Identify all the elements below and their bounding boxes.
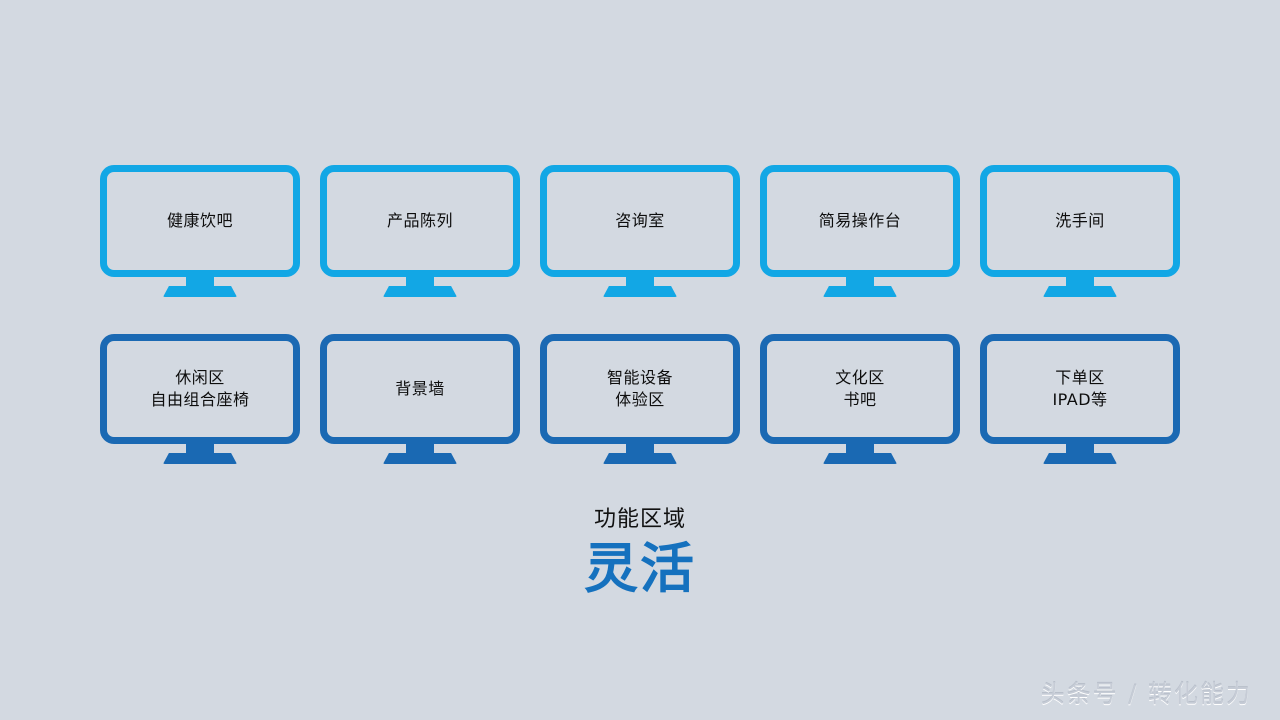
monitor-stand-10	[980, 444, 1180, 466]
monitor-label-9: 文化区 书吧	[835, 367, 885, 411]
caption-block: 功能区域 灵活	[0, 505, 1280, 601]
monitor-card-1[interactable]: 健康饮吧	[100, 165, 300, 299]
monitor-screen-7[interactable]: 背景墙	[320, 334, 520, 444]
monitor-stand-2	[320, 277, 520, 299]
monitor-label-7: 背景墙	[395, 378, 445, 400]
stand-base-icon	[823, 286, 897, 297]
monitor-row-dark: 休闲区 自由组合座椅 背景墙 智能设备 体验区	[100, 334, 1180, 466]
monitor-stand-3	[540, 277, 740, 299]
caption-title: 灵活	[0, 537, 1280, 601]
monitor-screen-9[interactable]: 文化区 书吧	[760, 334, 960, 444]
stand-base-icon	[603, 453, 677, 464]
stand-base-icon	[1043, 453, 1117, 464]
caption-subtitle: 功能区域	[0, 505, 1280, 535]
monitor-card-5[interactable]: 洗手间	[980, 165, 1180, 299]
slide-canvas: 健康饮吧 产品陈列 咨询室	[0, 0, 1280, 720]
monitor-screen-10[interactable]: 下单区 IPAD等	[980, 334, 1180, 444]
monitor-label-10: 下单区 IPAD等	[1052, 367, 1107, 411]
monitor-label-2: 产品陈列	[387, 210, 453, 232]
monitor-stand-8	[540, 444, 740, 466]
stand-base-icon	[383, 286, 457, 297]
monitor-label-4: 简易操作台	[819, 210, 902, 232]
monitor-label-5: 洗手间	[1055, 210, 1105, 232]
monitor-stand-9	[760, 444, 960, 466]
monitor-screen-2[interactable]: 产品陈列	[320, 165, 520, 277]
stand-base-icon	[1043, 286, 1117, 297]
stand-base-icon	[163, 453, 237, 464]
monitor-label-8: 智能设备 体验区	[607, 367, 673, 411]
monitor-screen-8[interactable]: 智能设备 体验区	[540, 334, 740, 444]
stand-base-icon	[603, 286, 677, 297]
monitor-screen-5[interactable]: 洗手间	[980, 165, 1180, 277]
monitor-label-3: 咨询室	[615, 210, 665, 232]
monitor-screen-4[interactable]: 简易操作台	[760, 165, 960, 277]
monitor-card-8[interactable]: 智能设备 体验区	[540, 334, 740, 466]
monitor-card-6[interactable]: 休闲区 自由组合座椅	[100, 334, 300, 466]
monitor-row-light: 健康饮吧 产品陈列 咨询室	[100, 165, 1180, 299]
monitor-stand-7	[320, 444, 520, 466]
monitor-stand-4	[760, 277, 960, 299]
monitor-card-3[interactable]: 咨询室	[540, 165, 740, 299]
monitor-stand-1	[100, 277, 300, 299]
monitor-label-1: 健康饮吧	[167, 210, 233, 232]
monitor-screen-1[interactable]: 健康饮吧	[100, 165, 300, 277]
monitor-card-10[interactable]: 下单区 IPAD等	[980, 334, 1180, 466]
monitor-card-4[interactable]: 简易操作台	[760, 165, 960, 299]
stand-base-icon	[383, 453, 457, 464]
monitor-screen-3[interactable]: 咨询室	[540, 165, 740, 277]
monitor-stand-6	[100, 444, 300, 466]
stand-base-icon	[823, 453, 897, 464]
monitor-screen-6[interactable]: 休闲区 自由组合座椅	[100, 334, 300, 444]
monitor-card-9[interactable]: 文化区 书吧	[760, 334, 960, 466]
monitor-stand-5	[980, 277, 1180, 299]
monitor-label-6: 休闲区 自由组合座椅	[150, 367, 249, 411]
monitor-card-7[interactable]: 背景墙	[320, 334, 520, 466]
monitor-card-2[interactable]: 产品陈列	[320, 165, 520, 299]
stand-base-icon	[163, 286, 237, 297]
watermark: 头条号 / 转化能力	[1041, 678, 1252, 710]
